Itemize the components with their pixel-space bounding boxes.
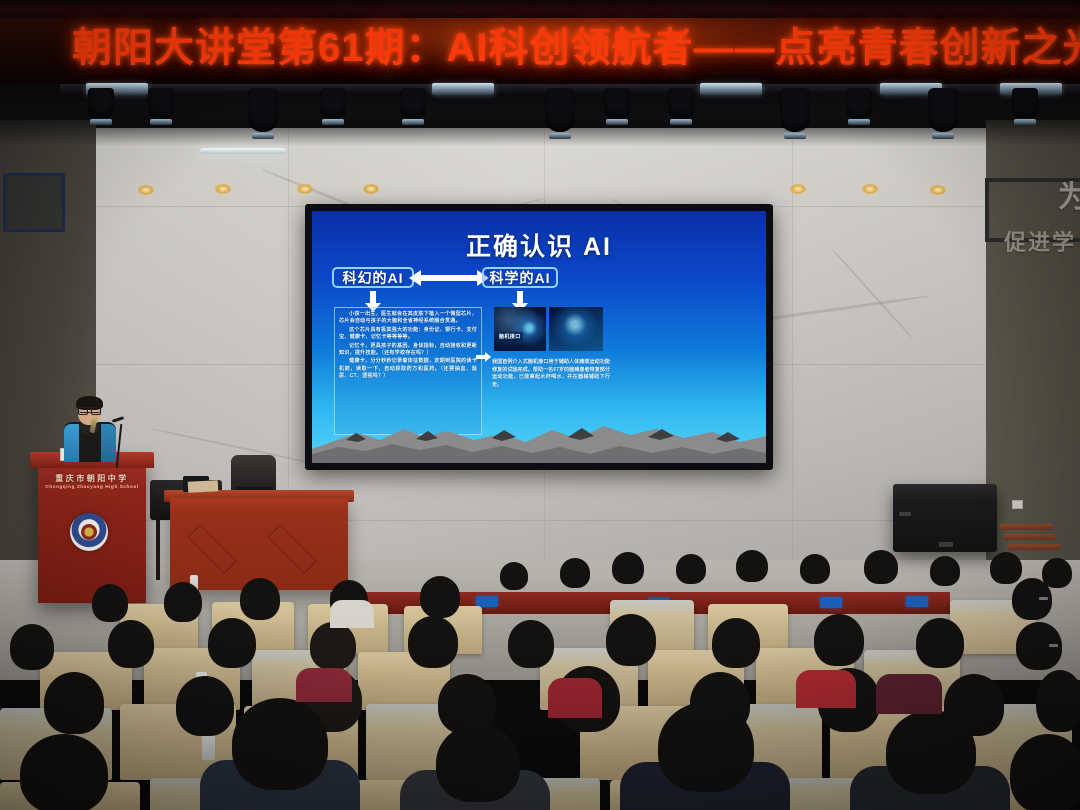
led-banner-strip: 朝阳大讲堂第61期：AI科创领航者——点亮青春创新之光 — [0, 0, 1080, 88]
slide-right-caption: 我国首例介入式脑机接口用于辅助人体瘫痪运动功能修复的试验完成。帮助一名67岁的脑… — [492, 359, 610, 389]
audience-head — [108, 620, 154, 668]
podium-school-name-cn: 重庆市朝阳中学 — [38, 473, 146, 484]
audience-seating: 381 382 385 386 — [0, 548, 1080, 810]
speaker-presenter — [56, 398, 124, 460]
downlight — [363, 184, 379, 194]
ceiling-edge — [0, 0, 1080, 18]
audience-head — [500, 562, 528, 590]
led-bar-light — [432, 83, 494, 95]
right-wall-plaque-text: 促进学 — [1004, 225, 1076, 257]
moving-head-light — [248, 88, 278, 139]
slide-title: 正确认识 AI — [312, 227, 766, 263]
audience-head — [10, 624, 54, 670]
thumb-caption: 脑机接口 — [497, 332, 523, 341]
speaker-vest-left — [64, 424, 79, 462]
slide-pill-scientific-ai: 科学的AI — [482, 267, 558, 288]
school-emblem — [70, 513, 108, 551]
wall-outlet — [1012, 500, 1023, 509]
presentation-slide: 正确认识 AI 科幻的AI 科学的AI 小孩一出生，医生就会在其皮肤下植入一个微… — [312, 211, 766, 463]
audience-head — [1012, 578, 1052, 620]
audience-head — [20, 734, 108, 810]
audience-head — [990, 552, 1022, 584]
audience-head — [864, 550, 898, 584]
audience-head — [164, 582, 202, 622]
downlight — [297, 184, 313, 194]
glasses-icon — [79, 407, 100, 413]
audience-head — [606, 614, 656, 666]
subwoofer-speaker — [893, 484, 997, 552]
slide-paragraph: 记忆卡，更具孩子的基因、身体指标，自动接收和更新知识，提升技能。（还有学校存在吗… — [339, 343, 477, 358]
stage-spotlight — [400, 88, 426, 125]
audience-head — [930, 556, 960, 586]
audience-jacket — [330, 600, 374, 628]
stage-papers — [188, 480, 219, 493]
moving-head-light — [780, 88, 810, 139]
slide-paragraph: 健康卡，分分秒秒记录着体征数据，定期到医院的读卡机前，读取一下，自动获取药方和医… — [339, 358, 477, 380]
audience-head — [1036, 670, 1080, 732]
slide-image-brain-interface: 脑机接口 — [494, 307, 546, 351]
audience-head — [176, 676, 234, 736]
projection-screen-bezel: 正确认识 AI 科幻的AI 科学的AI 小孩一出生，医生就会在其皮肤下植入一个微… — [305, 204, 773, 470]
stage-spotlight — [148, 88, 174, 125]
speaker-vest-right — [101, 424, 116, 462]
auditorium-photo: 为 促进学 正确认识 AI 科幻的AI 科学的AI 小孩一出生，医生就会在其皮肤… — [0, 0, 1080, 810]
stage-spotlight — [1012, 88, 1038, 125]
audience-head — [658, 702, 754, 792]
audience-head — [240, 578, 280, 620]
left-wall-panel — [3, 173, 65, 232]
stage-spotlight — [320, 88, 346, 125]
down-arrow-icon-right — [517, 291, 523, 303]
audience-jacket — [296, 668, 352, 702]
speaker-handle — [899, 512, 911, 516]
audience-head — [736, 550, 768, 582]
podium-school-name-en: Chongqing Zhaoyang High School — [38, 484, 146, 489]
audience-head — [310, 622, 356, 670]
downlight — [930, 185, 946, 195]
audience-head — [232, 698, 328, 790]
downlight — [215, 184, 231, 194]
audience-head — [208, 618, 256, 668]
audience-head — [44, 672, 104, 734]
audience-head — [1042, 558, 1072, 588]
stage-spotlight — [668, 88, 694, 125]
audience-head — [420, 576, 460, 618]
slide-paragraph: 小孩一出生，医生就会在其皮肤下植入一个微型芯片，芯片会自动与孩子的大脑和全省神经… — [339, 311, 477, 326]
led-bar-light — [700, 83, 762, 95]
stage-light-truss — [0, 84, 1080, 146]
audience-head — [814, 614, 864, 666]
audience-head — [712, 618, 760, 668]
audience-head — [92, 584, 128, 622]
stage-spotlight — [846, 88, 872, 125]
wall-strip-light — [200, 148, 286, 154]
down-arrow-icon-left — [370, 291, 376, 303]
double-arrow-icon — [420, 275, 478, 281]
right-arrow-icon — [476, 355, 485, 359]
audience-head — [886, 710, 976, 794]
audience-head — [612, 552, 644, 584]
audience-head — [508, 620, 554, 668]
audience-head — [1010, 734, 1080, 810]
stage-spotlight — [88, 88, 114, 125]
slide-image-patient — [549, 307, 603, 351]
slide-paragraph: 这个芯片具有极其强大的功能：身份证、银行卡、支付宝、健康卡、记忆卡等等等等。 — [339, 327, 477, 342]
audience-jacket — [876, 674, 942, 714]
audience-head — [1016, 622, 1062, 670]
audience-jacket — [796, 670, 856, 708]
right-wall-plaque-top: 为 — [1058, 172, 1080, 216]
downlight — [862, 184, 878, 194]
stage-spotlight — [604, 88, 630, 125]
moving-head-light — [928, 88, 958, 139]
slide-pill-sci-fi-ai: 科幻的AI — [332, 267, 414, 288]
event-title-banner: 朝阳大讲堂第61期：AI科创领航者——点亮青春创新之光 — [0, 22, 1080, 74]
audience-head — [676, 554, 706, 584]
audience-head — [408, 616, 458, 668]
downlight — [138, 185, 154, 195]
audience-head — [436, 724, 520, 802]
audience-jacket — [548, 678, 602, 718]
moving-head-light — [545, 88, 575, 139]
audience-head — [560, 558, 590, 588]
slide-mountain-graphic — [312, 409, 766, 463]
audience-head — [800, 554, 830, 584]
downlight — [790, 184, 806, 194]
audience-head — [916, 618, 964, 668]
